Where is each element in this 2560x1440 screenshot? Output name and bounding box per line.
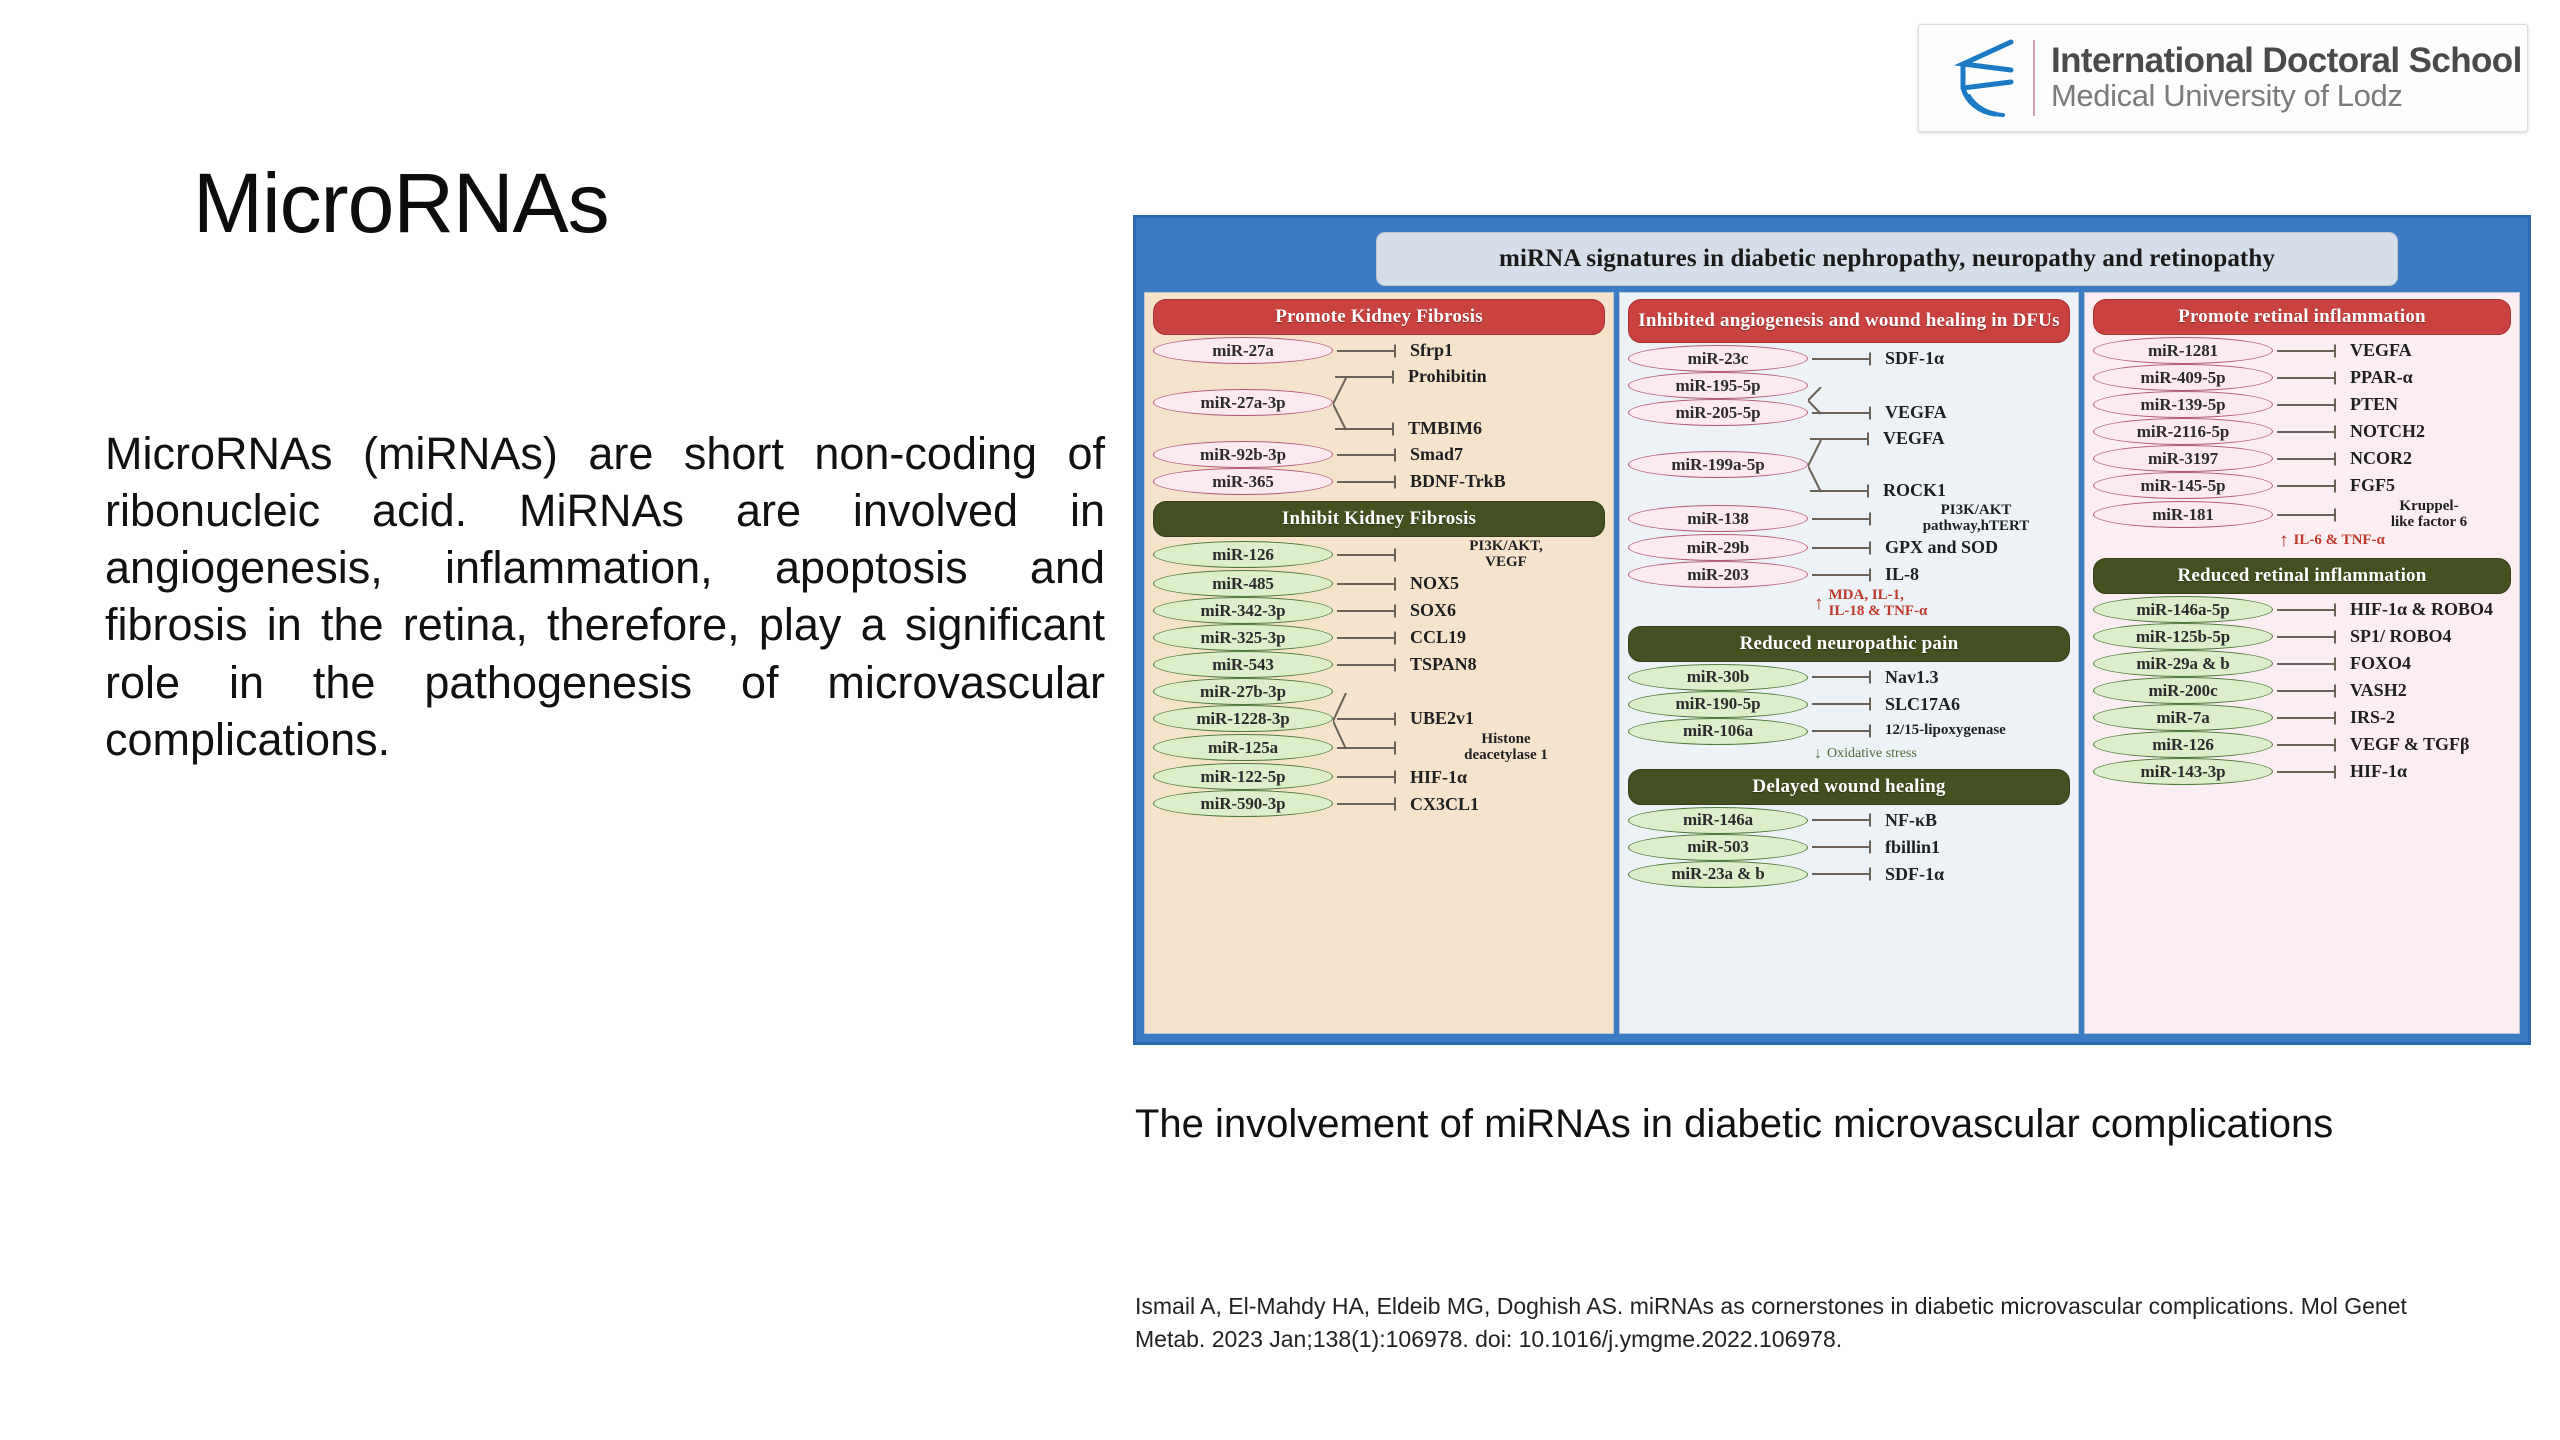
mirna-row: miR-126PI3K/AKT, VEGF [1153,539,1605,570]
mirna-node: miR-29a & b [2093,650,2273,677]
mirna-row: miR-146aNF-κB [1628,807,2070,834]
mirna-row: miR-106a12/15-lipoxygenase [1628,718,2070,745]
mirna-node: miR-590-3p [1153,790,1333,817]
section-band: Reduced neuropathic pain [1628,626,2070,662]
target-gene-label: TSPAN8 [1407,655,1605,674]
target-gene-label: VASH2 [2347,681,2511,700]
target-gene-label: CCL19 [1407,628,1605,647]
slide-body-text: MicroRNAs (miRNAs) are short non-coding … [105,425,1105,768]
target-gene-label: 12/15-lipoxygenase [1882,723,2070,739]
target-gene-label: VEGFA [2347,341,2511,360]
inhibition-connector-icon [1808,376,1882,396]
inhibition-connector-icon [1808,694,1882,714]
inhibition-connector-icon [1808,349,1882,369]
up-arrow-icon: ↑ [2279,530,2289,552]
target-gene-label: SDF-1α [1882,349,2070,368]
mirna-node: miR-146a [1628,807,1808,834]
target-gene-label: TMBIM6 [1405,419,1605,438]
mirna-row: miR-27a-3p [1153,389,1605,416]
mirna-row: miR-3197NCOR2 [2093,445,2511,472]
mirna-node: miR-126 [2093,731,2273,758]
mirna-row: miR-23cSDF-1α [1628,345,2070,372]
mirna-node: miR-29b [1628,534,1808,561]
inhibition-connector-icon [1333,545,1407,565]
annotation-text: MDA, IL-1, IL-18 & TNF-α [1829,588,1928,620]
mirna-node: miR-409-5p [2093,364,2273,391]
mirna-node: miR-145-5p [2093,472,2273,499]
target-gene-label: Kruppel- like factor 6 [2347,499,2511,530]
annotation-text: Oxidative stress [1827,746,1917,762]
mirna-node: miR-27a-3p [1153,389,1333,416]
target-gene-label: PPAR-α [2347,368,2511,387]
mirna-node: miR-205-5p [1628,399,1808,426]
target-gene-label: PI3K/AKT pathway,hTERT [1882,503,2070,534]
section-rows: miR-27aSfrp1ProhibitinmiR-27a-3pTMBIM6mi… [1145,335,1613,495]
target-gene-label: Prohibitin [1405,367,1605,386]
target-gene-label: IRS-2 [2347,708,2511,727]
target-gene-label: PI3K/AKT, VEGF [1407,539,1605,570]
mirna-node: miR-200c [2093,677,2273,704]
mirna-node: miR-27b-3p [1153,678,1333,705]
mirna-row: miR-1228-3pUBE2v1 [1153,705,1605,732]
figure-mirna-signatures: miRNA signatures in diabetic nephropathy… [1133,215,2531,1045]
inhibition-connector-icon [2273,600,2347,620]
section-rows: miR-30bNav1.3miR-190-5pSLC17A6miR-106a12… [1620,662,2078,763]
target-gene-label: HIF-1α [1407,768,1605,787]
institution-logo: International Doctoral School Medical Un… [1918,24,2528,132]
section-band: Inhibited angiogenesis and wound healing… [1628,299,2070,343]
inhibition-connector-icon [1333,738,1407,758]
mirna-row: miR-203IL-8 [1628,561,2070,588]
mirna-row: miR-365BDNF-TrkB [1153,468,1605,495]
mirna-row: miR-146a-5pHIF-1α & ROBO4 [2093,596,2511,623]
mirna-node: miR-143-3p [2093,758,2273,785]
target-gene-label: FOXO4 [2347,654,2511,673]
book-emblem-icon [1933,36,2029,120]
section-band: Promote retinal inflammation [2093,299,2511,335]
section-rows: miR-23cSDF-1αmiR-195-5pmiR-205-5pVEGFAVE… [1620,343,2078,620]
mirna-node: miR-125a [1153,734,1333,761]
inhibition-connector-icon [1808,538,1882,558]
target-gene-label: VEGFA [1882,403,2070,422]
inhibition-connector-icon [1808,565,1882,585]
mirna-node: miR-138 [1628,505,1808,532]
mirna-row: miR-92b-3pSmad7 [1153,441,1605,468]
mirna-row: miR-145-5pFGF5 [2093,472,2511,499]
inhibition-connector-icon [2273,476,2347,496]
mirna-node: miR-342-3p [1153,597,1333,624]
figure-column-kidney: Promote Kidney FibrosismiR-27aSfrp1Prohi… [1144,292,1614,1034]
inhibition-connector-icon [1333,709,1407,729]
target-gene-label: SDF-1α [1882,865,2070,884]
down-arrow-icon: ↓ [1814,745,1822,763]
inhibition-connector-icon [1808,455,1882,475]
inhibition-connector-icon [2273,395,2347,415]
mirna-node: miR-126 [1153,541,1333,568]
section-rows: miR-146a-5pHIF-1α & ROBO4miR-125b-5pSP1/… [2085,594,2519,785]
inhibition-connector-icon [1333,574,1407,594]
inhibition-connector-icon [2273,681,2347,701]
mirna-row: miR-181Kruppel- like factor 6 [2093,499,2511,530]
mirna-row: miR-126VEGF & TGFβ [2093,731,2511,758]
annotation-row: ↑IL-6 & TNF-α [2093,530,2511,552]
inhibition-connector-icon [1333,472,1407,492]
mirna-node: miR-203 [1628,561,1808,588]
section-band: Reduced retinal inflammation [2093,558,2511,594]
inhibition-connector-icon [1333,628,1407,648]
target-gene-label: NCOR2 [2347,449,2511,468]
mirna-row: ROCK1 [1628,478,2070,503]
mirna-node: miR-27a [1153,337,1333,364]
mirna-node: miR-23c [1628,345,1808,372]
target-gene-label: BDNF-TrkB [1407,472,1605,491]
inhibition-connector-icon [1331,419,1405,439]
target-gene-label: HIF-1α & ROBO4 [2347,600,2511,619]
target-gene-label: PTEN [2347,395,2511,414]
figure-column-retina: Promote retinal inflammationmiR-1281VEGF… [2084,292,2520,1034]
mirna-node: miR-146a-5p [2093,596,2273,623]
target-gene-label: VEGFA [1880,429,2070,448]
target-gene-label: VEGF & TGFβ [2347,735,2511,754]
mirna-node: miR-195-5p [1628,372,1808,399]
inhibition-connector-icon [1333,393,1407,413]
mirna-row: miR-325-3pCCL19 [1153,624,1605,651]
mirna-row: miR-125aHistone deacetylase 1 [1153,732,1605,763]
inhibition-connector-icon [2273,505,2347,525]
target-gene-label: Histone deacetylase 1 [1407,732,1605,763]
inhibition-connector-icon [1808,509,1882,529]
mirna-row: miR-205-5pVEGFA [1628,399,2070,426]
inhibition-connector-icon [1808,403,1882,423]
figure-banner-title: miRNA signatures in diabetic nephropathy… [1376,232,2398,286]
mirna-node: miR-139-5p [2093,391,2273,418]
mirna-row: miR-27aSfrp1 [1153,337,1605,364]
inhibition-connector-icon [2273,708,2347,728]
mirna-row: miR-485NOX5 [1153,570,1605,597]
mirna-row: miR-195-5p [1628,372,2070,399]
target-gene-label: NOX5 [1407,574,1605,593]
inhibition-connector-icon [1808,721,1882,741]
mirna-node: miR-92b-3p [1153,441,1333,468]
mirna-node: miR-122-5p [1153,763,1333,790]
mirna-row: miR-125b-5pSP1/ ROBO4 [2093,623,2511,650]
mirna-row: TMBIM6 [1153,416,1605,441]
mirna-node: miR-1281 [2093,337,2273,364]
section-rows: miR-126PI3K/AKT, VEGFmiR-485NOX5miR-342-… [1145,537,1613,817]
target-gene-label: HIF-1α [2347,762,2511,781]
inhibition-connector-icon [1808,810,1882,830]
logo-text: International Doctoral School Medical Un… [2051,42,2522,114]
target-gene-label: Nav1.3 [1882,668,2070,687]
target-gene-label: ROCK1 [1880,481,2070,500]
mirna-node: miR-181 [2093,501,2273,528]
target-gene-label: fbillin1 [1882,838,2070,857]
mirna-row: miR-200cVASH2 [2093,677,2511,704]
mirna-row: VEGFA [1628,426,2070,451]
mirna-node: miR-503 [1628,834,1808,861]
target-gene-label: SOX6 [1407,601,1605,620]
annotation-row: ↑MDA, IL-1, IL-18 & TNF-α [1628,588,2070,620]
mirna-node: miR-106a [1628,718,1808,745]
mirna-row: miR-1281VEGFA [2093,337,2511,364]
target-gene-label: Sfrp1 [1407,341,1605,360]
target-gene-label: Smad7 [1407,445,1605,464]
mirna-row: miR-7aIRS-2 [2093,704,2511,731]
inhibition-connector-icon [1333,341,1407,361]
inhibition-connector-icon [1808,864,1882,884]
mirna-node: miR-325-3p [1153,624,1333,651]
mirna-row: miR-122-5pHIF-1α [1153,763,1605,790]
mirna-row: miR-199a-5p [1628,451,2070,478]
target-gene-label: SLC17A6 [1882,695,2070,714]
logo-divider [2033,40,2035,116]
annotation-text: IL-6 & TNF-α [2294,533,2385,549]
annotation-row: ↓Oxidative stress [1628,745,2070,763]
target-gene-label: NF-κB [1882,811,2070,830]
inhibition-connector-icon [2273,735,2347,755]
section-band: Promote Kidney Fibrosis [1153,299,1605,335]
mirna-node: miR-199a-5p [1628,451,1808,478]
mirna-row: miR-29bGPX and SOD [1628,534,2070,561]
figure-columns: Promote Kidney FibrosismiR-27aSfrp1Prohi… [1144,292,2520,1034]
mirna-node: miR-190-5p [1628,691,1808,718]
target-gene-label: IL-8 [1882,565,2070,584]
target-gene-label: CX3CL1 [1407,795,1605,814]
inhibition-connector-icon [1808,667,1882,687]
mirna-row: miR-590-3pCX3CL1 [1153,790,1605,817]
section-rows: miR-1281VEGFAmiR-409-5pPPAR-αmiR-139-5pP… [2085,335,2519,552]
inhibition-connector-icon [2273,627,2347,647]
target-gene-label: FGF5 [2347,476,2511,495]
mirna-row: miR-30bNav1.3 [1628,664,2070,691]
mirna-row: miR-543TSPAN8 [1153,651,1605,678]
inhibition-connector-icon [2273,449,2347,469]
inhibition-connector-icon [2273,368,2347,388]
inhibition-connector-icon [1331,367,1405,387]
inhibition-connector-icon [1333,655,1407,675]
mirna-row: miR-503fbillin1 [1628,834,2070,861]
inhibition-connector-icon [1333,794,1407,814]
figure-citation: Ismail A, El-Mahdy HA, Eldeib MG, Doghis… [1135,1290,2475,1357]
page-title: MicroRNAs [193,155,609,252]
mirna-node: miR-30b [1628,664,1808,691]
mirna-row: miR-409-5pPPAR-α [2093,364,2511,391]
mirna-node: miR-365 [1153,468,1333,495]
up-arrow-icon: ↑ [1814,593,1824,615]
inhibition-connector-icon [1806,481,1880,501]
mirna-node: miR-23a & b [1628,861,1808,888]
mirna-node: miR-3197 [2093,445,2273,472]
inhibition-connector-icon [1333,767,1407,787]
mirna-node: miR-485 [1153,570,1333,597]
mirna-row: miR-139-5pPTEN [2093,391,2511,418]
mirna-node: miR-2116-5p [2093,418,2273,445]
mirna-row: miR-29a & bFOXO4 [2093,650,2511,677]
target-gene-label: GPX and SOD [1882,538,2070,557]
mirna-row: miR-190-5pSLC17A6 [1628,691,2070,718]
target-gene-label: SP1/ ROBO4 [2347,627,2511,646]
mirna-row: miR-23a & bSDF-1α [1628,861,2070,888]
target-gene-label: UBE2v1 [1407,709,1605,728]
section-band: Delayed wound healing [1628,769,2070,805]
logo-subtitle: Medical University of Lodz [2051,79,2522,114]
mirna-row: miR-2116-5pNOTCH2 [2093,418,2511,445]
figure-column-dfu: Inhibited angiogenesis and wound healing… [1619,292,2079,1034]
inhibition-connector-icon [1333,682,1407,702]
mirna-node: miR-125b-5p [2093,623,2273,650]
mirna-row: miR-342-3pSOX6 [1153,597,1605,624]
inhibition-connector-icon [2273,762,2347,782]
inhibition-connector-icon [1333,445,1407,465]
mirna-node: miR-7a [2093,704,2273,731]
mirna-node: miR-1228-3p [1153,705,1333,732]
mirna-row: miR-27b-3p [1153,678,1605,705]
mirna-node: miR-543 [1153,651,1333,678]
section-rows: miR-146aNF-κBmiR-503fbillin1miR-23a & bS… [1620,805,2078,888]
inhibition-connector-icon [2273,341,2347,361]
inhibition-connector-icon [2273,422,2347,442]
inhibition-connector-icon [1333,601,1407,621]
section-band: Inhibit Kidney Fibrosis [1153,501,1605,537]
mirna-row: Prohibitin [1153,364,1605,389]
inhibition-connector-icon [1806,429,1880,449]
inhibition-connector-icon [2273,654,2347,674]
logo-title: International Doctoral School [2051,42,2522,79]
mirna-row: miR-138PI3K/AKT pathway,hTERT [1628,503,2070,534]
target-gene-label: NOTCH2 [2347,422,2511,441]
figure-caption: The involvement of miRNAs in diabetic mi… [1135,1098,2395,1150]
inhibition-connector-icon [1808,837,1882,857]
mirna-row: miR-143-3pHIF-1α [2093,758,2511,785]
